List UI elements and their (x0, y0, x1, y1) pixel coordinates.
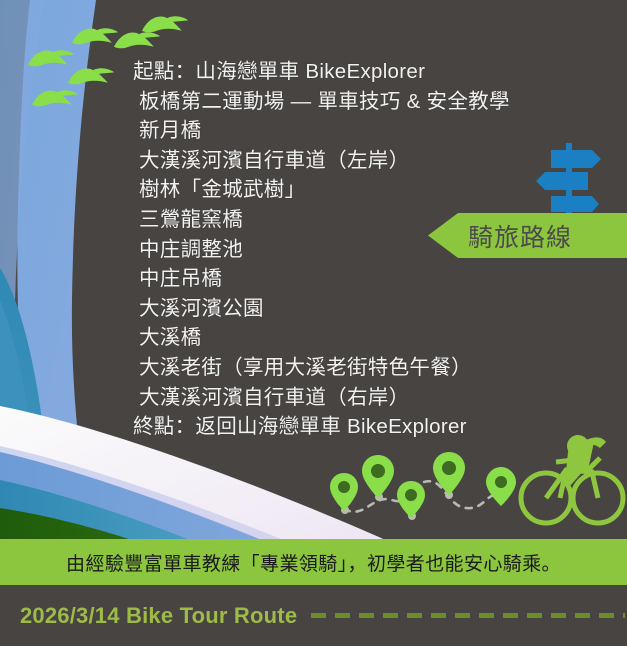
route-line: 樹林「金城武樹」 (133, 175, 603, 205)
route-line: 大漢溪河濱自行車道（左岸） (133, 146, 603, 176)
route-line: 大溪老街（享用大溪老街特色午餐） (133, 353, 603, 383)
route-badge-label: 騎旅路線 (468, 218, 572, 254)
tagline-bar: 由經驗豐富單車教練「專業領騎」，初學者也能安心騎乘。 (0, 539, 627, 585)
bird-icon (114, 32, 160, 48)
bird-icon (142, 16, 188, 32)
footer-bar: 2026/3/14 Bike Tour Route (0, 585, 627, 646)
bird-icon (32, 90, 78, 106)
cyclist-icon (521, 435, 623, 523)
route-line: 大漢溪河濱自行車道（右岸） (133, 383, 603, 413)
route-line: 大溪橋 (133, 323, 603, 353)
bird-icon (68, 68, 114, 84)
map-pin-icon (397, 481, 425, 518)
route-line: 大溪河濱公園 (133, 294, 603, 324)
bird-icon (28, 50, 74, 66)
map-pin-icon (362, 455, 394, 498)
route-badge: 騎旅路線 (428, 213, 627, 258)
route-line: 中庄吊橋 (133, 264, 603, 294)
route-line: 起點：山海戀單車 BikeExplorer (133, 57, 603, 87)
footer-dashed-line (311, 613, 625, 618)
map-pin-icon (330, 473, 358, 511)
bird-icon (72, 28, 118, 44)
route-line: 新月橋 (133, 116, 603, 146)
map-pin-icon (433, 452, 465, 495)
footer-date-label: 2026/3/14 Bike Tour Route (20, 603, 297, 629)
route-line: 終點：返回山海戀單車 BikeExplorer (133, 412, 603, 442)
tagline-text: 由經驗豐富單車教練「專業領騎」，初學者也能安心騎乘。 (66, 549, 561, 576)
map-pin-icon (486, 467, 516, 506)
route-line: 板橋第二運動場 — 單車技巧 & 安全教學 (133, 87, 603, 117)
poster-canvas: 起點：山海戀單車 BikeExplorer 板橋第二運動場 — 單車技巧 & 安… (0, 0, 627, 646)
